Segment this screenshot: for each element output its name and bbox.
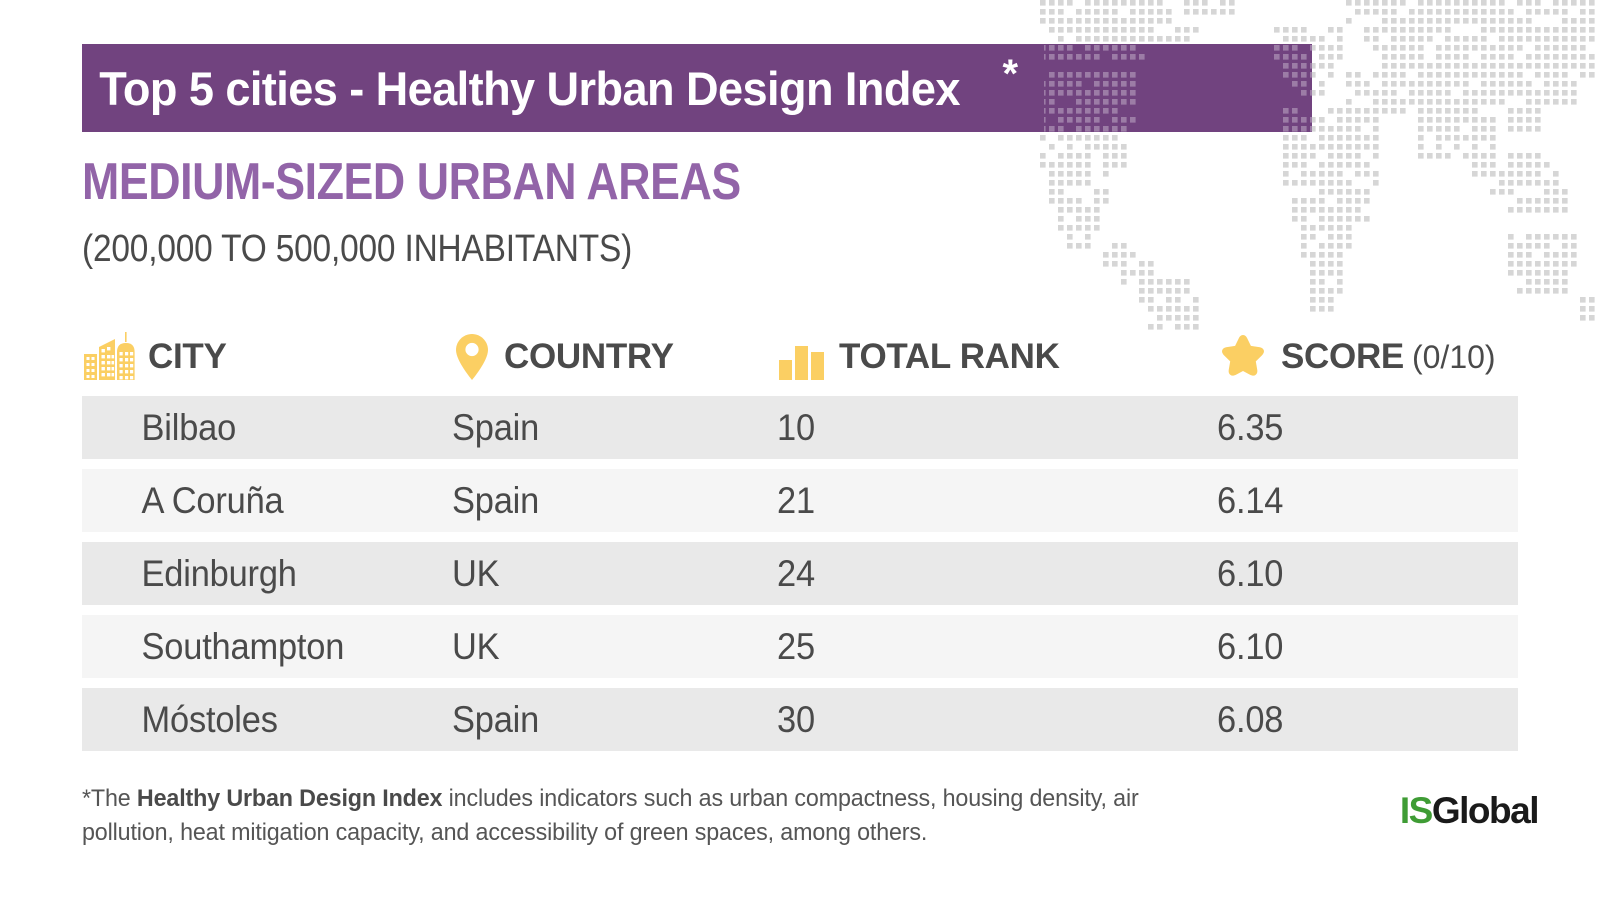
cell-score: 6.10	[1217, 626, 1497, 668]
column-header-country: COUNTRY	[452, 318, 777, 396]
city-buildings-icon	[82, 330, 136, 384]
cell-score: 6.14	[1217, 480, 1497, 522]
cell-score: 6.10	[1217, 553, 1497, 595]
logo-global: Global	[1432, 790, 1538, 831]
logo-is: IS	[1400, 790, 1432, 831]
subtitle-population-range: (200,000 TO 500,000 INHABITANTS)	[82, 228, 632, 271]
cell-city: A Coruña	[82, 480, 426, 522]
column-header-total-rank: TOTAL RANK	[777, 318, 1217, 396]
cell-rank: 30	[777, 699, 1186, 741]
subtitle-category: MEDIUM-SIZED URBAN AREAS	[82, 152, 741, 212]
column-header-score-suffix: (0/10)	[1412, 339, 1496, 376]
cell-city: Bilbao	[82, 407, 426, 449]
cell-country: Spain	[452, 407, 754, 449]
cell-rank: 24	[777, 553, 1186, 595]
cell-country: UK	[452, 626, 754, 668]
footnote: *The Healthy Urban Design Index includes…	[82, 782, 1222, 850]
table-header-row: CITY COUNTRY TOTAL RANK	[82, 318, 1518, 396]
cell-country: Spain	[452, 480, 754, 522]
cell-score: 6.35	[1217, 407, 1497, 449]
isglobal-logo: ISGlobal	[1400, 790, 1538, 832]
star-icon	[1217, 330, 1269, 384]
cell-score: 6.08	[1217, 699, 1497, 741]
title-footnote-marker: *	[1002, 52, 1018, 97]
ranking-table: CITY COUNTRY TOTAL RANK	[82, 318, 1518, 761]
table-row[interactable]: BilbaoSpain106.35	[82, 396, 1518, 459]
table-body: BilbaoSpain106.35A CoruñaSpain216.14Edin…	[82, 396, 1518, 751]
column-header-country-label: COUNTRY	[504, 337, 674, 377]
cell-rank: 21	[777, 480, 1186, 522]
cell-country: Spain	[452, 699, 754, 741]
column-header-score-label: SCORE	[1281, 337, 1404, 377]
cell-country: UK	[452, 553, 754, 595]
table-row[interactable]: SouthamptonUK256.10	[82, 615, 1518, 678]
page-title: Top 5 cities - Healthy Urban Design Inde…	[82, 61, 960, 116]
table-row[interactable]: MóstolesSpain306.08	[82, 688, 1518, 751]
location-pin-icon	[452, 330, 492, 384]
column-header-city: CITY	[82, 318, 452, 396]
column-header-score: SCORE (0/10)	[1217, 318, 1518, 396]
column-header-city-label: CITY	[148, 337, 227, 377]
table-row[interactable]: A CoruñaSpain216.14	[82, 469, 1518, 532]
cell-city: Southampton	[82, 626, 426, 668]
title-banner: Top 5 cities - Healthy Urban Design Inde…	[82, 44, 1312, 132]
table-row[interactable]: EdinburghUK246.10	[82, 542, 1518, 605]
cell-rank: 25	[777, 626, 1186, 668]
cell-rank: 10	[777, 407, 1186, 449]
cell-city: Móstoles	[82, 699, 426, 741]
bar-chart-icon	[777, 330, 827, 384]
column-header-total-rank-label: TOTAL RANK	[839, 337, 1060, 377]
footnote-prefix: *The	[82, 785, 137, 812]
cell-city: Edinburgh	[82, 553, 426, 595]
banner-dot-overlay	[1044, 44, 1312, 132]
footnote-bold-term: Healthy Urban Design Index	[137, 785, 442, 812]
